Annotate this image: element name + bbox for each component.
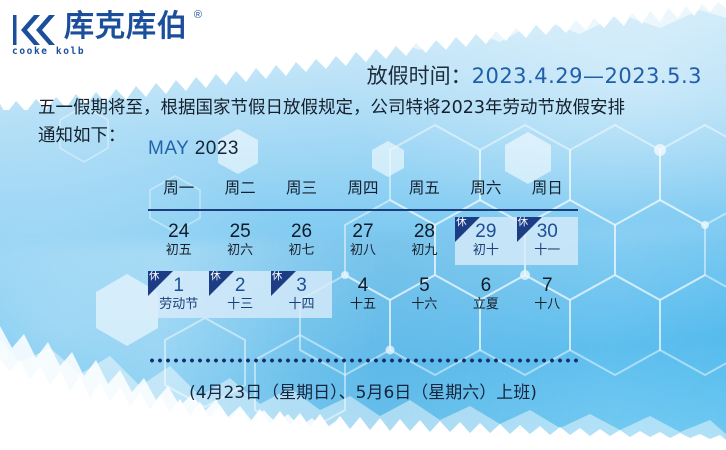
- calendar-day-lunar-label: 初七: [271, 243, 332, 259]
- calendar-day-lunar-label: 十五: [332, 297, 393, 313]
- brand-name-en: cooke kolb: [12, 46, 85, 57]
- calendar-day-lunar-label: 十一: [517, 243, 578, 259]
- calendar-day-number: 4: [332, 275, 393, 297]
- calendar-day-lunar-label: 十四: [271, 297, 332, 313]
- calendar-day-lunar-label: 初九: [394, 243, 455, 259]
- calendar-weekday-5: 周五: [394, 176, 455, 198]
- calendar-day-cell[interactable]: 26初七: [271, 217, 332, 265]
- calendar-day-cell[interactable]: 28初九: [394, 217, 455, 265]
- calendar-day-cell[interactable]: 休3十四: [271, 271, 332, 319]
- holiday-period-label: 放假时间：: [367, 64, 472, 88]
- calendar-day-lunar-label: 十三: [209, 297, 270, 313]
- calendar-weekday-4: 周四: [332, 176, 393, 198]
- calendar-day-number: 25: [209, 221, 270, 243]
- calendar: MAY 2023 周一周二周三周四周五周六周日 24初五25初六26初七27初八…: [148, 138, 578, 318]
- rest-day-badge-label: 休: [272, 271, 283, 283]
- holiday-notice-poster: 库克库伯 ® cooke kolb 放假时间：2023.4.29—2023.5.…: [0, 0, 726, 450]
- calendar-year-label: 2023: [195, 138, 239, 159]
- calendar-days-grid: 24初五25初六26初七27初八28初九休29初十休30十一休1劳动节休2十三休…: [148, 217, 578, 318]
- rest-day-badge-label: 休: [210, 271, 221, 283]
- calendar-weekday-header: 周一周二周三周四周五周六周日: [148, 176, 578, 198]
- calendar-day-number: 28: [394, 221, 455, 243]
- calendar-weekday-6: 周六: [455, 176, 516, 198]
- calendar-day-number: 5: [394, 275, 455, 297]
- holiday-period-range: 2023.4.29—2023.5.3: [472, 64, 702, 88]
- calendar-day-lunar-label: 十八: [517, 297, 578, 313]
- rest-day-badge: 休: [455, 217, 480, 242]
- calendar-day-number: 7: [517, 275, 578, 297]
- calendar-dotted-divider: [148, 358, 580, 363]
- calendar-header-rule: [148, 209, 578, 211]
- calendar-weekday-3: 周三: [271, 176, 332, 198]
- calendar-day-cell[interactable]: 休2十三: [209, 271, 270, 319]
- calendar-day-cell[interactable]: 4十五: [332, 271, 393, 319]
- notice-paragraph-line-1: 五一假期将至，根据国家节假日放假规定，公司特将2023年劳动节放假安排: [38, 94, 698, 122]
- calendar-weekday-2: 周二: [209, 176, 270, 198]
- calendar-weekday-7: 周日: [517, 176, 578, 198]
- brand-logo: 库克库伯 ® cooke kolb: [12, 12, 188, 52]
- registered-trademark-icon: ®: [194, 9, 202, 21]
- calendar-day-cell[interactable]: 6立夏: [455, 271, 516, 319]
- calendar-day-number: 26: [271, 221, 332, 243]
- calendar-day-cell[interactable]: 休1劳动节: [148, 271, 209, 319]
- calendar-month-title: MAY 2023: [148, 138, 578, 160]
- calendar-day-lunar-label: 劳动节: [148, 297, 209, 313]
- calendar-day-lunar-label: 初十: [455, 243, 516, 259]
- calendar-day-lunar-label: 初六: [209, 243, 270, 259]
- calendar-day-cell[interactable]: 休29初十: [455, 217, 516, 265]
- calendar-month-label: MAY: [148, 138, 189, 159]
- rest-day-badge-label: 休: [456, 217, 467, 229]
- calendar-day-cell[interactable]: 5十六: [394, 271, 455, 319]
- calendar-day-cell[interactable]: 24初五: [148, 217, 209, 265]
- calendar-day-number: 27: [332, 221, 393, 243]
- calendar-day-lunar-label: 立夏: [455, 297, 516, 313]
- rest-day-badge: 休: [209, 271, 234, 296]
- calendar-day-number: 6: [455, 275, 516, 297]
- calendar-day-cell[interactable]: 27初八: [332, 217, 393, 265]
- rest-day-badge: 休: [148, 271, 173, 296]
- rest-day-badge-label: 休: [518, 217, 529, 229]
- calendar-day-lunar-label: 初八: [332, 243, 393, 259]
- calendar-day-cell[interactable]: 休30十一: [517, 217, 578, 265]
- rest-day-badge-label: 休: [149, 271, 160, 283]
- rest-day-badge: 休: [517, 217, 542, 242]
- calendar-weekday-1: 周一: [148, 176, 209, 198]
- workday-note: (4月23日（星期日）、5月6日（星期六）上班): [0, 378, 726, 403]
- calendar-day-number: 24: [148, 221, 209, 243]
- calendar-day-lunar-label: 初五: [148, 243, 209, 259]
- brand-name-cn: 库克库伯: [64, 12, 188, 42]
- calendar-day-cell[interactable]: 7十八: [517, 271, 578, 319]
- calendar-day-lunar-label: 十六: [394, 297, 455, 313]
- calendar-day-cell[interactable]: 25初六: [209, 217, 270, 265]
- holiday-period-headline: 放假时间：2023.4.29—2023.5.3: [367, 60, 702, 90]
- rest-day-badge: 休: [271, 271, 296, 296]
